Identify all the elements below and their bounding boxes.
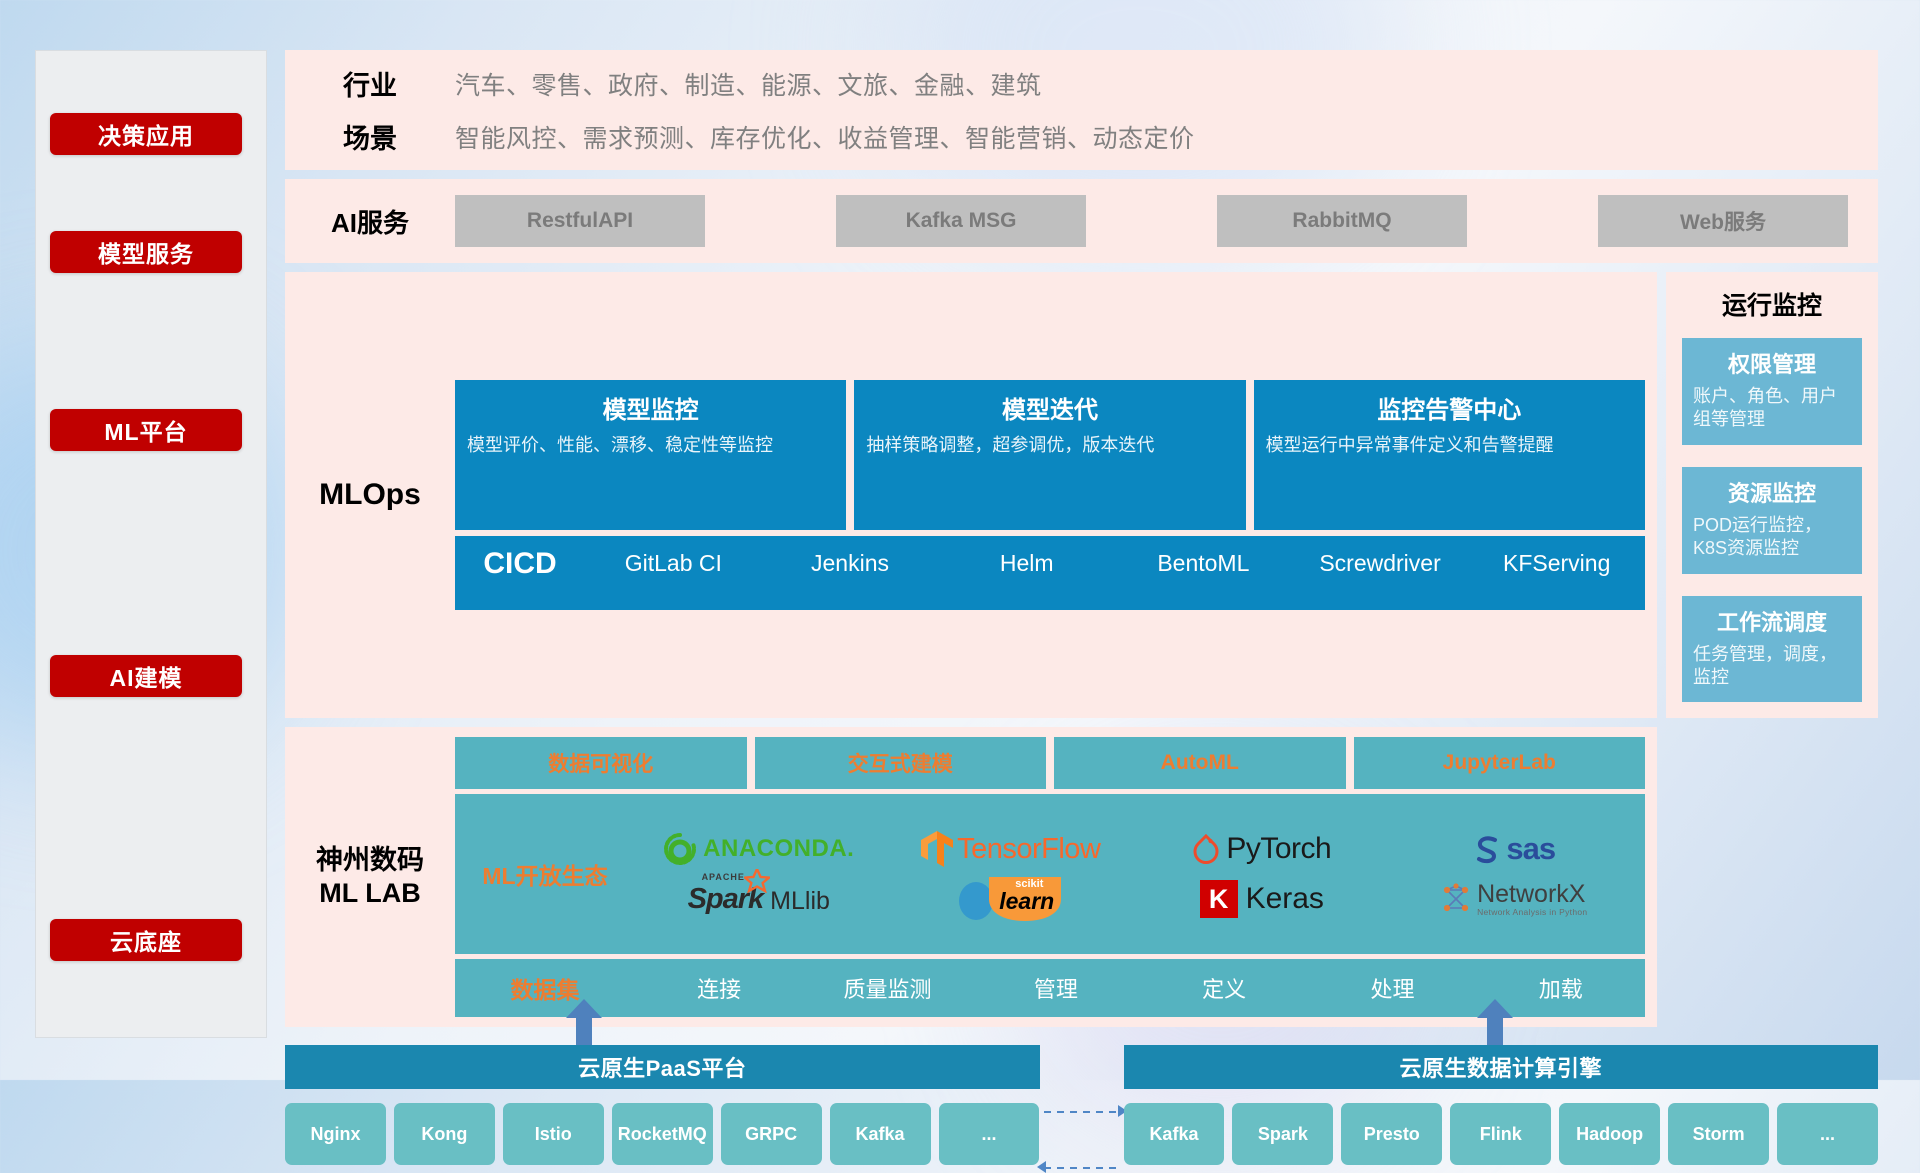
pytorch-icon: [1192, 832, 1220, 866]
runtime-monitor-panel: 运行监控 权限管理 账户、角色、用户组等管理 资源监控 POD运行监控，K8S资…: [1666, 272, 1878, 718]
up-arrow-icon: [565, 999, 603, 1045]
mllib-wordmark: MLlib: [770, 887, 830, 916]
cloud-chip-nginx[interactable]: Nginx: [285, 1103, 386, 1165]
keras-k-letter: K: [1209, 884, 1229, 915]
cicd-item-screwdriver[interactable]: Screwdriver: [1292, 549, 1469, 578]
mlops-card-alert-center[interactable]: 监控告警中心 模型运行中异常事件定义和告警提醒: [1254, 380, 1645, 530]
card-title: 监控告警中心: [1266, 390, 1633, 425]
cloud-chip-grpc[interactable]: GRPC: [721, 1103, 822, 1165]
dataset-item-manage[interactable]: 管理: [972, 972, 1140, 1004]
model-service-band: AI服务 RestfulAPI Kafka MSG RabbitMQ Web服务: [285, 179, 1878, 263]
rail-tag-label: 决策应用: [98, 117, 194, 151]
bidirectional-link: [1040, 1045, 1124, 1165]
tensorflow-icon: [920, 830, 954, 868]
rail-tag-label: AI建模: [110, 659, 183, 693]
cicd-item-kfserving[interactable]: KFServing: [1468, 549, 1645, 578]
spark-star-icon: [744, 869, 770, 893]
card-title: 模型监控: [467, 390, 834, 425]
mlops-card-model-monitoring[interactable]: 模型监控 模型评价、性能、漂移、稳定性等监控: [455, 380, 846, 530]
mlops-label: MLOps: [285, 478, 455, 512]
sas-icon: [1471, 833, 1503, 865]
monitor-rail-spacer: [1666, 727, 1878, 1027]
lab-tool-automl[interactable]: AutoML: [1054, 737, 1346, 789]
card-desc: POD运行监控，K8S资源监控: [1693, 514, 1851, 561]
cicd-item-bentoml[interactable]: BentoML: [1115, 549, 1292, 578]
industry-row: 行业 汽车、零售、政府、制造、能源、文旅、金融、建筑: [285, 64, 1878, 103]
pytorch-logo: PyTorch: [1192, 832, 1331, 866]
paas-platform-column: 云原生PaaS平台 Nginx Kong Istio RocketMQ GRPC…: [285, 1045, 1040, 1165]
cicd-item-helm[interactable]: Helm: [938, 549, 1115, 578]
ml-lab-label: 神州数码 ML LAB: [285, 737, 455, 1017]
rail-tag-decision-app[interactable]: 决策应用: [50, 113, 242, 155]
rail-tag-label: 模型服务: [98, 235, 194, 269]
dashed-arrow-right: [1044, 1111, 1120, 1113]
networkx-logo: NetworkX Network Analysis in Python: [1439, 882, 1587, 917]
layer-rail: 决策应用 模型服务 ML平台 AI建模 云底座: [35, 50, 267, 1038]
ai-service-label: AI服务: [285, 203, 455, 240]
service-chip-restfulapi[interactable]: RestfulAPI: [455, 195, 705, 247]
ml-platform-band: MLOps 模型监控 模型评价、性能、漂移、稳定性等监控 模型迭代 抽样策略调整…: [285, 272, 1878, 718]
mlops-panel: MLOps 模型监控 模型评价、性能、漂移、稳定性等监控 模型迭代 抽样策略调整…: [285, 272, 1657, 718]
apache-wordmark: APACHE: [702, 872, 745, 882]
lab-tool-data-visualization[interactable]: 数据可视化: [455, 737, 747, 789]
keras-icon: K: [1200, 880, 1238, 918]
lab-tool-interactive-modeling[interactable]: 交互式建模: [755, 737, 1047, 789]
scenario-value: 智能风控、需求预测、库存优化、收益管理、智能营销、动态定价: [455, 119, 1195, 155]
spark-mllib-logo: APACHE Spark MLlib: [688, 883, 830, 916]
cloud-chip-istio[interactable]: Istio: [503, 1103, 604, 1165]
rail-tag-model-service[interactable]: 模型服务: [50, 231, 242, 273]
ml-open-ecosystem: ML开放生态 ANACONDA.: [455, 794, 1645, 954]
cloud-chip-hadoop[interactable]: Hadoop: [1559, 1103, 1660, 1165]
anaconda-logo: ANACONDA.: [663, 832, 854, 866]
card-title: 资源监控: [1693, 476, 1851, 508]
ml-lab-panel: 神州数码 ML LAB 数据可视化 交互式建模 AutoML JupyterLa…: [285, 727, 1657, 1027]
scenario-row: 场景 智能风控、需求预测、库存优化、收益管理、智能营销、动态定价: [285, 117, 1878, 156]
tensorflow-wordmark: TensorFlow: [957, 833, 1100, 866]
anaconda-wordmark: ANACONDA.: [703, 835, 854, 863]
card-desc: 模型评价、性能、漂移、稳定性等监控: [467, 433, 834, 457]
sas-logo: sas: [1471, 831, 1555, 867]
cicd-item-gitlab-ci[interactable]: GitLab CI: [585, 549, 762, 578]
ml-lab-label-line2: ML LAB: [316, 877, 424, 911]
dataset-item-process[interactable]: 处理: [1308, 972, 1476, 1004]
ai-modeling-band: 神州数码 ML LAB 数据可视化 交互式建模 AutoML JupyterLa…: [285, 727, 1878, 1027]
cicd-label: CICD: [455, 549, 585, 579]
dataset-row: 数据集 连接 质量监测 管理 定义 处理 加载: [455, 959, 1645, 1017]
cloud-chip-more[interactable]: ...: [1777, 1103, 1878, 1165]
dashed-arrow-left-head: [1037, 1161, 1046, 1173]
networkx-icon: [1439, 882, 1473, 916]
rail-tag-cloud-base[interactable]: 云底座: [50, 919, 242, 961]
cloud-chip-kafka[interactable]: Kafka: [1124, 1103, 1225, 1165]
dataset-item-define[interactable]: 定义: [1140, 972, 1308, 1004]
tensorflow-logo: TensorFlow: [920, 830, 1100, 868]
cloud-chip-kafka[interactable]: Kafka: [830, 1103, 931, 1165]
keras-logo: K Keras: [1200, 880, 1324, 918]
dataset-label: 数据集: [455, 971, 635, 1005]
dashed-arrow-left: [1044, 1167, 1120, 1169]
lab-tool-jupyterlab[interactable]: JupyterLab: [1354, 737, 1646, 789]
card-title: 工作流调度: [1693, 605, 1851, 637]
networkx-tagline: Network Analysis in Python: [1477, 907, 1587, 917]
scikit-learn-logo: scikit learn: [956, 875, 1064, 923]
cloud-chip-spark[interactable]: Spark: [1232, 1103, 1333, 1165]
card-desc: 模型运行中异常事件定义和告警提醒: [1266, 433, 1633, 457]
up-arrow-icon: [1476, 999, 1514, 1045]
monitor-card-workflow[interactable]: 工作流调度 任务管理，调度，监控: [1682, 596, 1862, 703]
cloud-chip-presto[interactable]: Presto: [1341, 1103, 1442, 1165]
pytorch-wordmark: PyTorch: [1226, 832, 1331, 866]
ml-open-ecosystem-label: ML开放生态: [455, 857, 635, 891]
industry-key: 行业: [285, 64, 455, 103]
rail-tag-label: 云底座: [110, 923, 182, 957]
networkx-wordmark: NetworkX: [1477, 882, 1587, 907]
service-chip-web-service[interactable]: Web服务: [1598, 195, 1848, 247]
card-desc: 任务管理，调度，监控: [1693, 643, 1851, 690]
monitor-card-permission[interactable]: 权限管理 账户、角色、用户组等管理: [1682, 338, 1862, 445]
service-chip-kafka-msg[interactable]: Kafka MSG: [836, 195, 1086, 247]
card-title: 模型迭代: [866, 390, 1233, 425]
runtime-monitor-title: 运行监控: [1682, 286, 1862, 322]
cloud-chip-flink[interactable]: Flink: [1450, 1103, 1551, 1165]
architecture-diagram: 决策应用 模型服务 ML平台 AI建模 云底座 行业 汽车、零售、政府、制造、能…: [0, 0, 1920, 1080]
cloud-chip-storm[interactable]: Storm: [1668, 1103, 1769, 1165]
card-desc: 账户、角色、用户组等管理: [1693, 385, 1851, 432]
rail-tag-ml-platform[interactable]: ML平台: [50, 409, 242, 451]
decision-application-band: 行业 汽车、零售、政府、制造、能源、文旅、金融、建筑 场景 智能风控、需求预测、…: [285, 50, 1878, 170]
data-compute-engine-column: 云原生数据计算引擎 Kafka Spark Presto Flink Hadoo…: [1124, 1045, 1879, 1165]
rail-tag-label: ML平台: [104, 413, 187, 447]
diagram-content: 行业 汽车、零售、政府、制造、能源、文旅、金融、建筑 场景 智能风控、需求预测、…: [285, 50, 1878, 1038]
cloud-chip-more[interactable]: ...: [939, 1103, 1040, 1165]
scenario-key: 场景: [285, 117, 455, 156]
sas-wordmark: sas: [1506, 831, 1555, 867]
ml-lab-label-line1: 神州数码: [316, 844, 424, 878]
dataset-item-quality[interactable]: 质量监测: [803, 972, 971, 1004]
service-chip-rabbitmq[interactable]: RabbitMQ: [1217, 195, 1467, 247]
paas-platform-header: 云原生PaaS平台: [285, 1045, 1040, 1089]
data-compute-engine-header: 云原生数据计算引擎: [1124, 1045, 1879, 1089]
dataset-item-connect[interactable]: 连接: [635, 972, 803, 1004]
monitor-card-resource[interactable]: 资源监控 POD运行监控，K8S资源监控: [1682, 467, 1862, 574]
card-title: 权限管理: [1693, 347, 1851, 379]
rail-tag-ai-modeling[interactable]: AI建模: [50, 655, 242, 697]
learn-wordmark: learn: [999, 888, 1054, 915]
cicd-item-jenkins[interactable]: Jenkins: [762, 549, 939, 578]
cloud-chip-kong[interactable]: Kong: [394, 1103, 495, 1165]
industry-value: 汽车、零售、政府、制造、能源、文旅、金融、建筑: [455, 66, 1042, 102]
card-desc: 抽样策略调整，超参调优，版本迭代: [866, 433, 1233, 457]
cloud-chip-rocketmq[interactable]: RocketMQ: [612, 1103, 713, 1165]
anaconda-icon: [663, 832, 697, 866]
keras-wordmark: Keras: [1246, 882, 1324, 916]
cloud-base-band: 云原生PaaS平台 Nginx Kong Istio RocketMQ GRPC…: [285, 1045, 1878, 1165]
mlops-card-model-iteration[interactable]: 模型迭代 抽样策略调整，超参调优，版本迭代: [854, 380, 1245, 530]
cicd-row: CICD GitLab CI Jenkins Helm BentoML Scre…: [455, 536, 1645, 610]
